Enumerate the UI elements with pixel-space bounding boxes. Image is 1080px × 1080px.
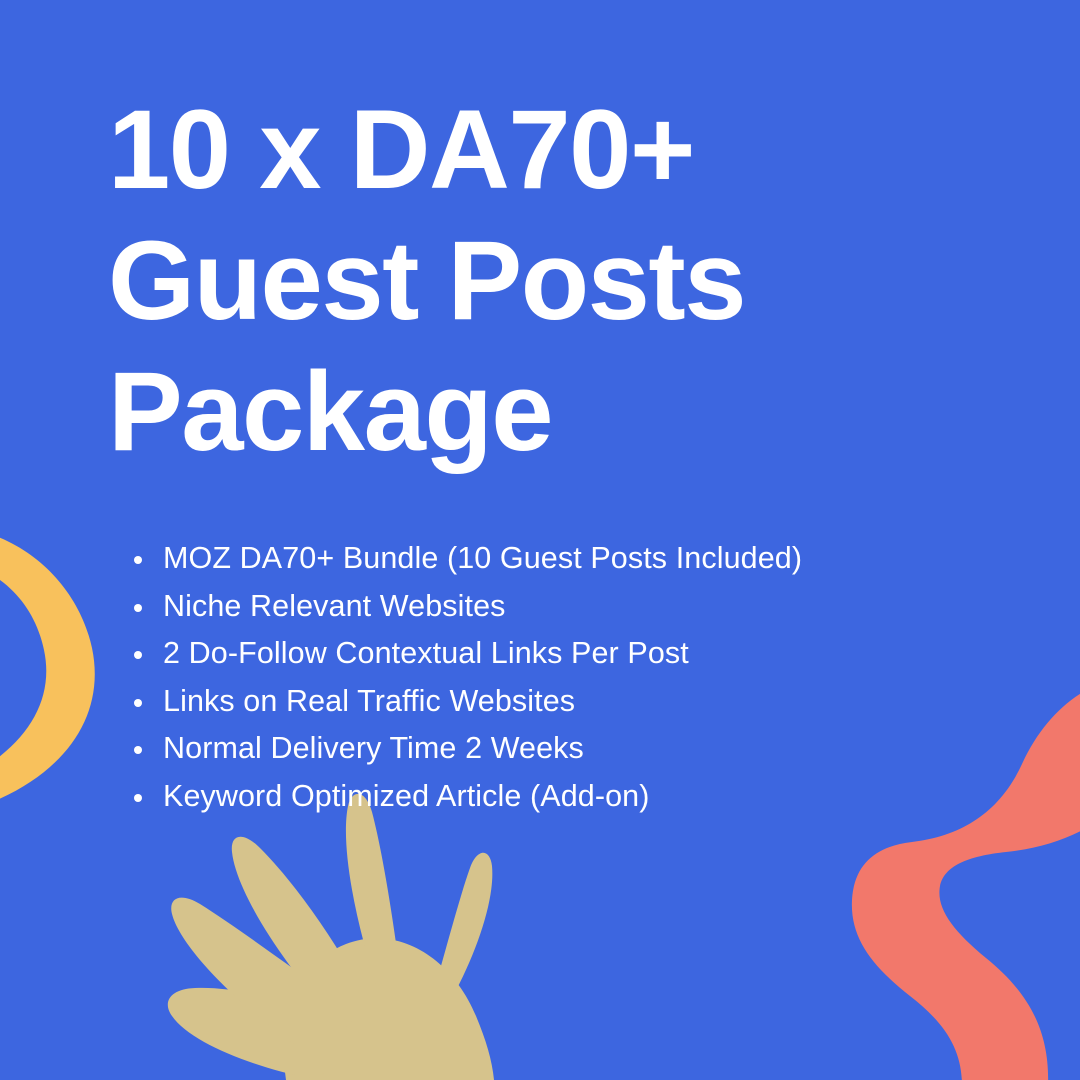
page-title: 10 x DA70+ Guest Posts Package [108, 84, 968, 477]
bullet-dot-icon [134, 746, 142, 754]
feature-label: MOZ DA70+ Bundle (10 Guest Posts Include… [163, 541, 802, 575]
poster-content: 10 x DA70+ Guest Posts Package MOZ DA70+… [0, 0, 1080, 1080]
headline-line-1: 10 x DA70+ [108, 84, 968, 215]
feature-label: Keyword Optimized Article (Add-on) [163, 779, 650, 813]
list-item: 2 Do-Follow Contextual Links Per Post [128, 631, 918, 677]
bullet-dot-icon [134, 651, 142, 659]
list-item: Niche Relevant Websites [128, 584, 918, 630]
headline-line-3: Package [108, 346, 968, 477]
feature-label: Niche Relevant Websites [163, 589, 505, 623]
list-item: Normal Delivery Time 2 Weeks [128, 726, 918, 772]
bullet-dot-icon [134, 556, 142, 564]
headline-line-2: Guest Posts [108, 215, 968, 346]
bullet-dot-icon [134, 699, 142, 707]
list-item: MOZ DA70+ Bundle (10 Guest Posts Include… [128, 536, 918, 582]
promo-poster: 10 x DA70+ Guest Posts Package MOZ DA70+… [0, 0, 1080, 1080]
feature-label: Links on Real Traffic Websites [163, 684, 575, 718]
feature-label: 2 Do-Follow Contextual Links Per Post [163, 636, 689, 670]
bullet-dot-icon [134, 794, 142, 802]
feature-list: MOZ DA70+ Bundle (10 Guest Posts Include… [128, 536, 918, 821]
feature-label: Normal Delivery Time 2 Weeks [163, 731, 584, 765]
bullet-dot-icon [134, 604, 142, 612]
list-item: Keyword Optimized Article (Add-on) [128, 774, 918, 820]
list-item: Links on Real Traffic Websites [128, 679, 918, 725]
